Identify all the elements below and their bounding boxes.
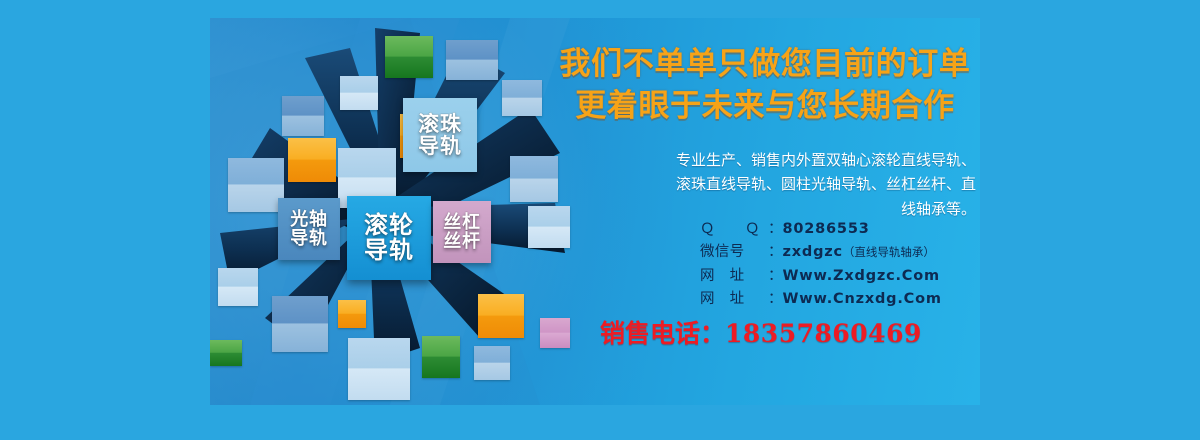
contact-row-website-1: 网 址 ： Www.Zxdgzc.Com	[700, 265, 980, 288]
product-cube-shaft-guide-line1: 光轴	[290, 210, 327, 229]
product-cube-roller-guide[interactable]: 滚轮 导轨	[347, 196, 431, 280]
sales-phone-label: 销售电话：	[600, 319, 725, 348]
page-background: 滚珠 导轨 光轴 导轨 滚轮 导轨 丝杠 丝杆	[0, 0, 1200, 440]
product-cube-ball-guide-line2: 导轨	[418, 135, 462, 157]
contact-sep-website-2: ：	[768, 288, 783, 311]
decor-cube-ltblue-topleft	[340, 76, 378, 110]
contact-value-wechat[interactable]: zxdgzc	[783, 241, 843, 264]
contact-label-website-1: 网 址	[700, 265, 768, 288]
promo-banner: 滚珠 导轨 光轴 导轨 滚轮 导轨 丝杠 丝杆	[210, 18, 980, 405]
cube-cluster-graphic: 滚珠 导轨 光轴 导轨 滚轮 导轨 丝杠 丝杆	[210, 18, 570, 405]
product-cube-screw-rod-line2: 丝杆	[443, 232, 480, 251]
product-cube-shaft-guide[interactable]: 光轴 导轨	[278, 198, 340, 260]
contact-value-website-2[interactable]: Www.Cnzxdg.Com	[783, 288, 942, 311]
product-cube-ball-guide[interactable]: 滚珠 导轨	[403, 98, 477, 172]
decor-cube-orange-left	[288, 138, 336, 182]
product-cube-screw-rod[interactable]: 丝杠 丝杆	[433, 201, 491, 263]
decor-cube-blue-lowright	[474, 346, 510, 380]
description-text: 专业生产、销售内外置双轴心滚轮直线导轨、 滚珠直线导轨、圆柱光轴导轨、丝杠丝杆、…	[598, 148, 976, 221]
decor-cube-blue-lowleft	[272, 296, 328, 352]
headline-line-1: 我们不单单只做您目前的订单	[550, 44, 980, 84]
decor-cube-green-top	[385, 36, 433, 78]
decor-cube-ltblue-lowleft	[218, 268, 258, 306]
contact-value-qq[interactable]: 80286553	[783, 218, 870, 241]
description-line-2: 滚珠直线导轨、圆柱光轴导轨、丝杠丝杆、直	[598, 172, 976, 196]
decor-cube-orange-low	[338, 300, 366, 328]
sales-phone[interactable]: 销售电话：18357860469	[600, 314, 980, 350]
contact-sep-website-1: ：	[768, 265, 783, 288]
contact-sep-wechat: ：	[768, 241, 783, 264]
contact-sep-qq: ：	[768, 218, 783, 241]
contact-row-wechat: 微信号 ： zxdgzc （直线导轨轴承）	[700, 241, 980, 264]
decor-cube-green-low	[422, 336, 460, 378]
product-cube-screw-rod-line1: 丝杠	[443, 213, 480, 232]
decor-cube-blue-topright	[502, 80, 542, 116]
product-cube-roller-guide-line2: 导轨	[364, 238, 414, 263]
headline-line-2: 更着眼于未来与您长期合作	[550, 86, 980, 126]
contact-label-website-2: 网 址	[700, 288, 768, 311]
decor-cube-ltblue-bottom	[348, 338, 410, 400]
contact-note-wechat: （直线导轨轴承）	[843, 243, 935, 262]
sales-phone-number[interactable]: 18357860469	[725, 319, 922, 348]
product-cube-roller-guide-line1: 滚轮	[364, 213, 414, 238]
headline: 我们不单单只做您目前的订单 更着眼于未来与您长期合作	[550, 44, 980, 127]
decor-cube-blue-farleft	[228, 158, 284, 212]
banner-text-column: 我们不单单只做您目前的订单 更着眼于未来与您长期合作 专业生产、销售内外置双轴心…	[550, 18, 980, 405]
contact-value-website-1[interactable]: Www.Zxdgzc.Com	[783, 265, 940, 288]
decor-cube-blue-top	[446, 40, 498, 80]
product-cube-shaft-guide-line2: 导轨	[290, 229, 327, 248]
contact-info-block: Ｑ Ｑ ： 80286553 微信号 ： zxdgzc （直线导轨轴承） 网 址…	[700, 218, 980, 312]
contact-row-website-2: 网 址 ： Www.Cnzxdg.Com	[700, 288, 980, 311]
decor-cube-blue-left	[282, 96, 324, 136]
description-line-1: 专业生产、销售内外置双轴心滚轮直线导轨、	[598, 148, 976, 172]
product-cube-ball-guide-line1: 滚珠	[418, 113, 462, 135]
contact-label-wechat: 微信号	[700, 241, 768, 264]
decor-cube-orange-lowright	[478, 294, 524, 338]
decor-cube-green-bottomleft	[210, 340, 242, 366]
contact-row-qq: Ｑ Ｑ ： 80286553	[700, 218, 980, 241]
contact-label-qq: Ｑ Ｑ	[700, 218, 768, 241]
